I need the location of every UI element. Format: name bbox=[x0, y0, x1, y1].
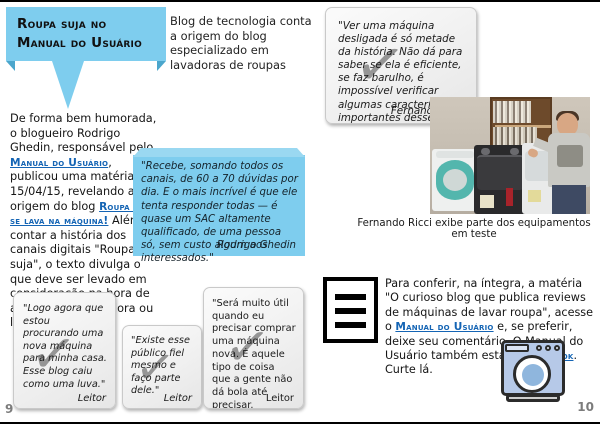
testimonial-box-1: ✓ "Logo agora que estou procurando uma n… bbox=[13, 292, 116, 409]
page-number-right: 10 bbox=[577, 400, 594, 414]
link-manual-do-usuario-cta[interactable]: Manual do Usuário bbox=[395, 321, 493, 333]
testimonial-author-2: Leitor bbox=[164, 393, 192, 404]
photo-caption: Fernando Ricci exibe parte dos equipamen… bbox=[352, 218, 596, 240]
page-title-line2: Manual do Usuário bbox=[17, 34, 166, 53]
document-lines-icon bbox=[323, 277, 378, 343]
page-number-left: 9 bbox=[5, 402, 13, 416]
page-title-line1: Roupa suja no bbox=[17, 15, 166, 34]
blue-quote-author: Rodrigo Ghedin bbox=[217, 240, 296, 251]
link-manual-do-usuario[interactable]: Manual do Usuário bbox=[10, 157, 108, 169]
photo-fernando-ricci bbox=[430, 97, 590, 214]
photo-washer-teal bbox=[432, 149, 478, 211]
blue-quote-box: "Recebe, somando todos os canais, de 60 … bbox=[133, 148, 305, 256]
testimonial-box-3: ✓ "Será muito útil quando eu precisar co… bbox=[203, 287, 304, 409]
washing-machine-icon bbox=[498, 337, 570, 405]
blue-quote-fold-icon bbox=[133, 148, 305, 157]
top-rule bbox=[0, 0, 600, 2]
testimonial-text-2: "Existe esse público fiel mesmo e faço p… bbox=[131, 335, 194, 398]
photo-person bbox=[548, 111, 590, 214]
photo-books-row1 bbox=[493, 101, 531, 123]
lede-text: Blog de tecnologia conta a origem do blo… bbox=[170, 14, 320, 72]
banner-fold-left-icon bbox=[6, 61, 15, 71]
testimonial-author-3: Leitor bbox=[266, 393, 294, 404]
testimonial-author-1: Leitor bbox=[78, 393, 106, 404]
testimonial-text-1: "Logo agora que estou procurando uma nov… bbox=[23, 303, 107, 391]
banner-fold-right-icon bbox=[157, 61, 166, 71]
banner-pointer-icon bbox=[52, 61, 84, 109]
page-title: Roupa suja no Manual do Usuário bbox=[6, 7, 166, 61]
photo-washer-black bbox=[474, 145, 527, 214]
title-banner: Roupa suja no Manual do Usuário bbox=[6, 7, 166, 61]
testimonial-box-2: ✓ "Existe esse público fiel mesmo e faço… bbox=[122, 325, 202, 409]
